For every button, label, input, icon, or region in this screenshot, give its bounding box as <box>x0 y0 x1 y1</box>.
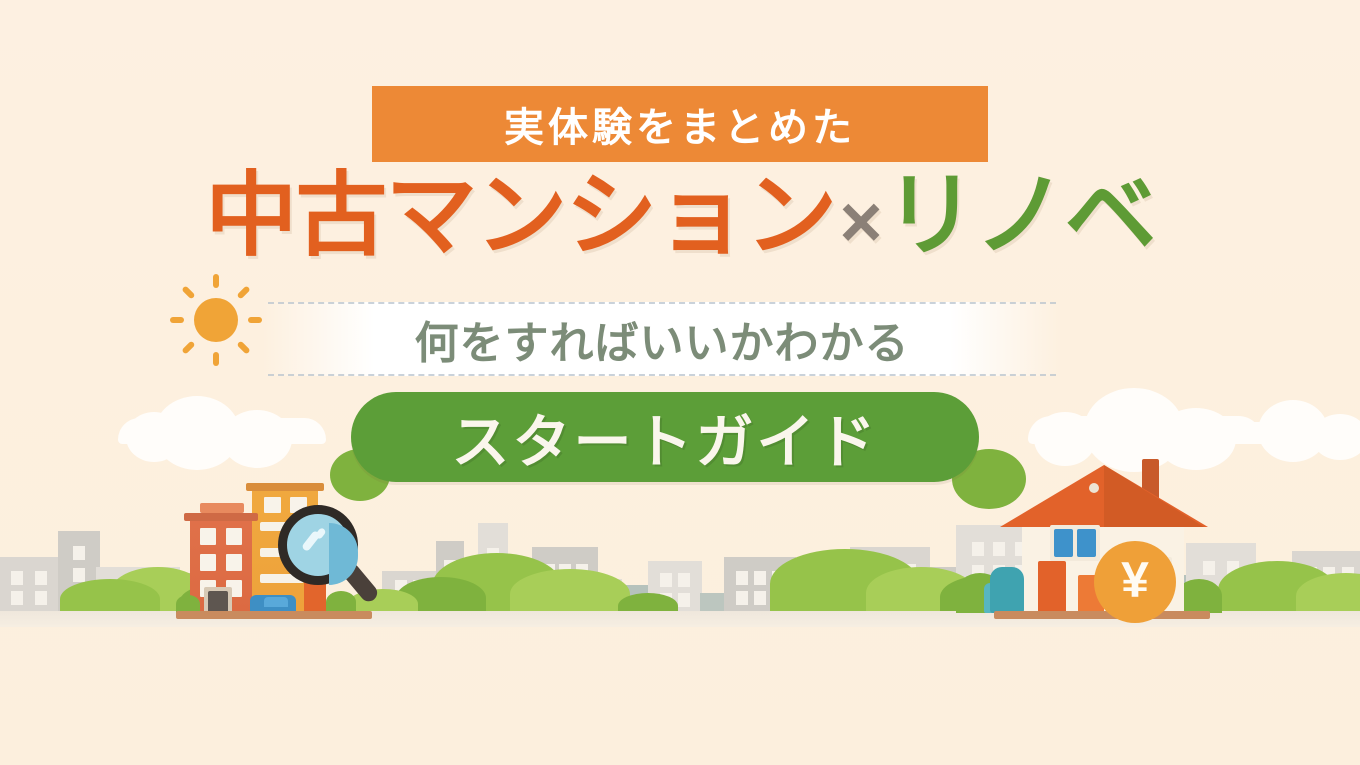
yen-symbol: ¥ <box>1121 555 1149 605</box>
sun-icon <box>168 272 264 368</box>
subtitle-rule-bottom <box>268 374 1056 376</box>
hero-banner: ¥ 実体験をまとめた 中古マンション×リノベ 何をすればいいかわかる スタートガ… <box>0 0 1360 765</box>
skyline-window <box>35 571 47 585</box>
sun-ray <box>237 341 251 355</box>
sun-disc <box>194 298 238 342</box>
house-window <box>1077 529 1096 557</box>
subtitle-band: 何をすればいいかわかる <box>262 302 1062 376</box>
skyline-window <box>736 591 748 605</box>
skyline-window <box>754 571 766 585</box>
apartment-entrance-door <box>208 591 228 613</box>
sun-ray <box>213 274 219 288</box>
sun-ray <box>181 341 195 355</box>
subtitle-label: 何をすればいいかわかる <box>415 307 910 371</box>
title-part-primary: 中古マンション <box>205 165 835 267</box>
cta-pill-label: スタートガイド <box>451 395 878 479</box>
skyline-window <box>35 591 47 605</box>
title-separator-icon: × <box>835 180 884 263</box>
house-roof-shadow <box>1104 465 1204 527</box>
cta-pill[interactable]: スタートガイド <box>351 392 979 482</box>
skyline-window <box>678 573 690 587</box>
title-part-secondary: リノベ <box>885 165 1155 267</box>
apartment-tower-short-roof <box>184 513 258 521</box>
skyline-window <box>736 571 748 585</box>
apartment-window <box>200 528 216 545</box>
skyline-window <box>11 571 23 585</box>
house-ground-slab <box>994 611 1210 619</box>
sun-ray <box>170 317 184 323</box>
eyebrow-badge: 実体験をまとめた <box>372 86 988 162</box>
subtitle-rule-top <box>268 302 1056 304</box>
sun-ray <box>237 285 251 299</box>
sun-ray <box>213 352 219 366</box>
cloud-icon <box>118 382 326 444</box>
cloud-base <box>118 418 326 444</box>
cloud-base <box>1028 416 1262 444</box>
sun-ray <box>248 317 262 323</box>
cloud-icon <box>1028 378 1262 444</box>
apartment-window <box>200 554 216 571</box>
page-title: 中古マンション×リノベ <box>0 170 1360 262</box>
skyline-window <box>11 591 23 605</box>
skyline-window <box>678 593 690 607</box>
cloud-base <box>1232 422 1360 444</box>
skyline-window <box>73 568 85 582</box>
sun-ray <box>181 285 195 299</box>
apartment-window <box>226 554 242 571</box>
skyline-window <box>754 591 766 605</box>
outdoor-chair <box>990 567 1024 613</box>
house-front-door <box>1038 561 1066 613</box>
house-roof-vent <box>1089 483 1099 493</box>
cloud-icon <box>1232 392 1360 444</box>
yen-coin-icon: ¥ <box>1094 541 1176 623</box>
eyebrow-badge-label: 実体験をまとめた <box>504 95 856 153</box>
house-window <box>1054 529 1073 557</box>
skyline-window <box>660 573 672 587</box>
skyline-building <box>0 557 64 619</box>
magnifying-glass-icon <box>278 505 386 613</box>
apartment-tower-tall-roof <box>246 483 324 491</box>
apartment-window <box>226 528 242 545</box>
apartment-tower-short-cap <box>200 503 244 513</box>
skyline-window <box>73 546 85 560</box>
skyline-window <box>972 542 984 556</box>
magnifier-ring <box>278 505 358 585</box>
